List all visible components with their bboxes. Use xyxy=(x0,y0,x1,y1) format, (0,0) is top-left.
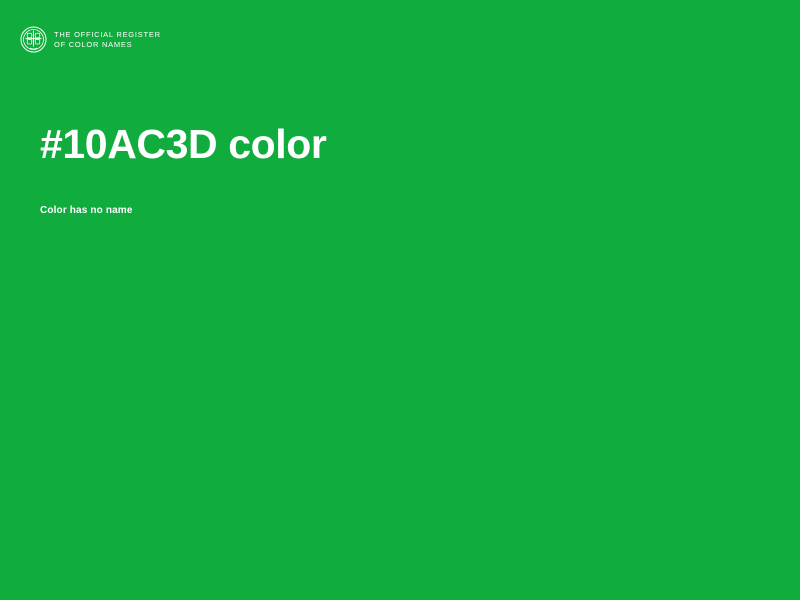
color-info-block: #10AC3D color Color has no name xyxy=(40,120,760,218)
color-name-status: Color has no name xyxy=(40,168,760,218)
brand-wordmark-line-1: THE OFFICIAL REGISTER xyxy=(54,30,161,40)
brand-wordmark-line-2: OF COLOR NAMES xyxy=(54,40,161,50)
official-register-seal-icon xyxy=(20,26,47,53)
brand-header[interactable]: THE OFFICIAL REGISTER OF COLOR NAMES xyxy=(20,26,161,53)
color-page: THE OFFICIAL REGISTER OF COLOR NAMES #10… xyxy=(0,0,800,600)
page-title: #10AC3D color xyxy=(40,120,760,168)
brand-wordmark: THE OFFICIAL REGISTER OF COLOR NAMES xyxy=(54,29,161,50)
